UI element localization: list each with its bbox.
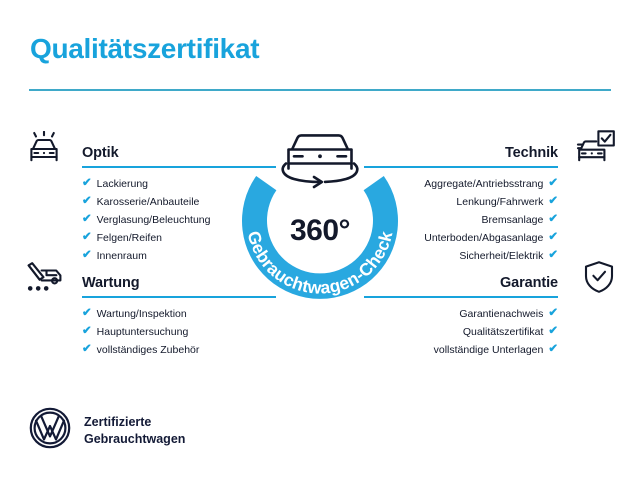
section-optik-header: Optik xyxy=(24,128,254,166)
check-icon: ✔ xyxy=(82,344,92,356)
check-icon: ✔ xyxy=(82,308,92,320)
list-item: ✔Karosserie/Anbauteile xyxy=(24,193,254,211)
list-item-label: Karosserie/Anbauteile xyxy=(97,193,200,211)
section-optik: Optik ✔Lackierung ✔Karosserie/Anbauteile… xyxy=(24,128,254,265)
check-icon: ✔ xyxy=(548,214,558,226)
list-item-label: Felgen/Reifen xyxy=(97,229,162,247)
check-icon: ✔ xyxy=(548,326,558,338)
car-shine-icon xyxy=(24,128,76,166)
list-item-label: Garantienachweis xyxy=(459,305,543,323)
list-item-label: vollständiges Zubehör xyxy=(97,341,200,359)
shield-check-icon xyxy=(564,258,616,296)
360-check-badge: Gebrauchtwagen-Check 360° xyxy=(222,122,418,318)
list-item-label: Hauptuntersuchung xyxy=(97,323,189,341)
car-checkbox-icon xyxy=(564,128,616,166)
list-item-label: Lackierung xyxy=(97,175,148,193)
check-icon: ✔ xyxy=(548,308,558,320)
page-title: Qualitätszertifikat xyxy=(30,34,259,65)
list-item-label: Qualitätszertifikat xyxy=(463,323,544,341)
footer-brand: ZertifizierteGebrauchtwagen xyxy=(28,406,185,455)
badge-degrees: 360° xyxy=(222,214,418,248)
list-item-label: Bremsanlage xyxy=(481,211,543,229)
footer-line-2: Gebrauchtwagen xyxy=(84,432,185,446)
list-item: ✔Felgen/Reifen xyxy=(24,229,254,247)
list-item: Qualitätszertifikat✔ xyxy=(386,323,616,341)
footer-line-1: Zertifizierte xyxy=(84,415,151,429)
check-icon: ✔ xyxy=(82,232,92,244)
section-wartung-header: Wartung xyxy=(24,258,254,296)
footer-brand-text: ZertifizierteGebrauchtwagen xyxy=(84,414,185,447)
check-icon: ✔ xyxy=(82,214,92,226)
volkswagen-logo xyxy=(28,406,72,455)
section-wartung-list: ✔Wartung/Inspektion ✔Hauptuntersuchung ✔… xyxy=(24,305,254,359)
list-item: ✔vollständiges Zubehör xyxy=(24,341,254,359)
list-item: ✔Verglasung/Beleuchtung xyxy=(24,211,254,229)
section-optik-list: ✔Lackierung ✔Karosserie/Anbauteile ✔Verg… xyxy=(24,175,254,265)
list-item-label: vollständige Unterlagen xyxy=(434,341,544,359)
section-technik-header: Technik xyxy=(386,128,616,166)
section-garantie: Garantie Garantienachweis✔ Qualitätszert… xyxy=(386,258,616,359)
section-wartung: Wartung ✔Wartung/Inspektion ✔Hauptunters… xyxy=(24,258,254,359)
list-item: ✔Lackierung xyxy=(24,175,254,193)
section-garantie-header: Garantie xyxy=(386,258,616,296)
list-item-label: Verglasung/Beleuchtung xyxy=(97,211,211,229)
check-icon: ✔ xyxy=(82,178,92,190)
check-icon: ✔ xyxy=(82,196,92,208)
section-wartung-title: Wartung xyxy=(82,275,140,291)
list-item-label: Lenkung/Fahrwerk xyxy=(456,193,543,211)
section-garantie-list: Garantienachweis✔ Qualitätszertifikat✔ v… xyxy=(386,305,616,359)
check-icon: ✔ xyxy=(548,344,558,356)
check-icon: ✔ xyxy=(548,232,558,244)
section-technik: Technik Aggregate/Antriebsstrang✔ Lenkun… xyxy=(386,128,616,265)
section-technik-list: Aggregate/Antriebsstrang✔ Lenkung/Fahrwe… xyxy=(386,175,616,265)
list-item: vollständige Unterlagen✔ xyxy=(386,341,616,359)
list-item-label: Unterboden/Abgasanlage xyxy=(424,229,543,247)
check-icon: ✔ xyxy=(548,196,558,208)
list-item: Lenkung/Fahrwerk✔ xyxy=(386,193,616,211)
list-item: Aggregate/Antriebsstrang✔ xyxy=(386,175,616,193)
list-item-label: Wartung/Inspektion xyxy=(97,305,187,323)
check-icon: ✔ xyxy=(82,326,92,338)
check-icon: ✔ xyxy=(548,178,558,190)
list-item: ✔Wartung/Inspektion xyxy=(24,305,254,323)
section-optik-title: Optik xyxy=(82,145,119,161)
list-item: ✔Hauptuntersuchung xyxy=(24,323,254,341)
service-pen-car-icon xyxy=(24,258,76,296)
qualitaetszertifikat-page: Qualitätszertifikat Optik xyxy=(0,0,640,480)
list-item-label: Aggregate/Antriebsstrang xyxy=(424,175,543,193)
list-item: Unterboden/Abgasanlage✔ xyxy=(386,229,616,247)
section-garantie-title: Garantie xyxy=(500,275,558,291)
list-item: Garantienachweis✔ xyxy=(386,305,616,323)
section-technik-title: Technik xyxy=(505,145,558,161)
car-rotation-icon xyxy=(283,135,358,187)
list-item: Bremsanlage✔ xyxy=(386,211,616,229)
title-divider xyxy=(29,89,611,91)
